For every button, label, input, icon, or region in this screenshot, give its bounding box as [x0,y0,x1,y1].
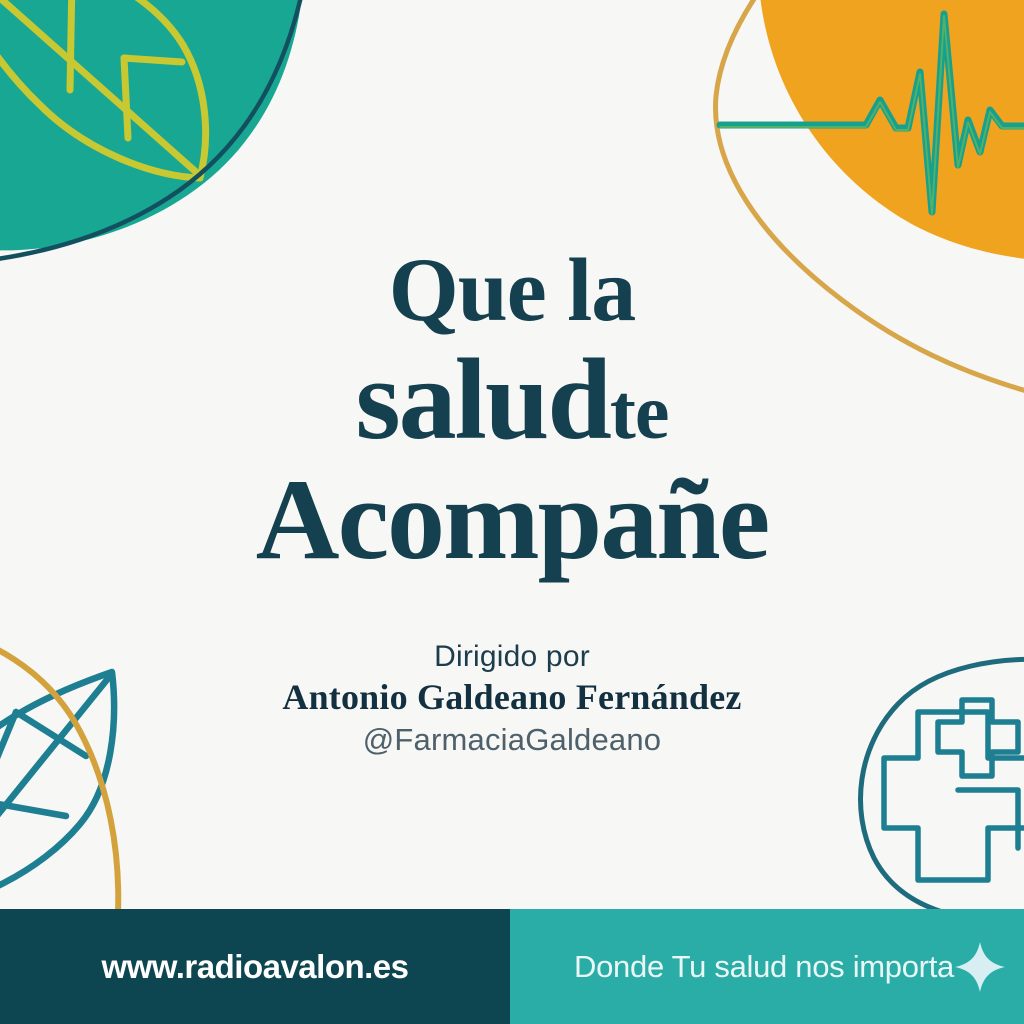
headline-word-te: te [610,368,669,455]
top-left-leaf-icon [0,0,206,178]
headline-line-1: Que la [0,246,1024,336]
footer-tagline-panel: Donde Tu salud nos importa [510,909,1024,1024]
credit-prefix: Dirigido por [0,640,1024,675]
website-url[interactable]: www.radioavalon.es [101,948,408,986]
top-left-arc [0,0,312,265]
credit-host-name: Antonio Galdeano Fernández [0,677,1024,718]
ecg-line-icon [720,14,1024,212]
sparkle-icon [954,941,1006,993]
headline-word-salud: salud [355,336,609,464]
credits-block: Dirigido por Antonio Galdeano Fernández … [0,640,1024,758]
ecg-line-highlight [720,16,1024,214]
top-right-blob [759,0,1024,262]
top-left-blob [0,0,305,250]
headline-line-2: saludte [0,342,1024,458]
poster-canvas: Que la saludte Acompañe Dirigido por Ant… [0,0,1024,1024]
headline-line-3: Acompañe [0,462,1024,578]
headline-block: Que la saludte Acompañe [0,246,1024,578]
footer-bar: www.radioavalon.es Donde Tu salud nos im… [0,909,1024,1024]
footer-url-panel: www.radioavalon.es [0,909,510,1024]
credit-social-handle: @FarmaciaGaldeano [0,722,1024,758]
tagline-text: Donde Tu salud nos importa [574,949,954,985]
